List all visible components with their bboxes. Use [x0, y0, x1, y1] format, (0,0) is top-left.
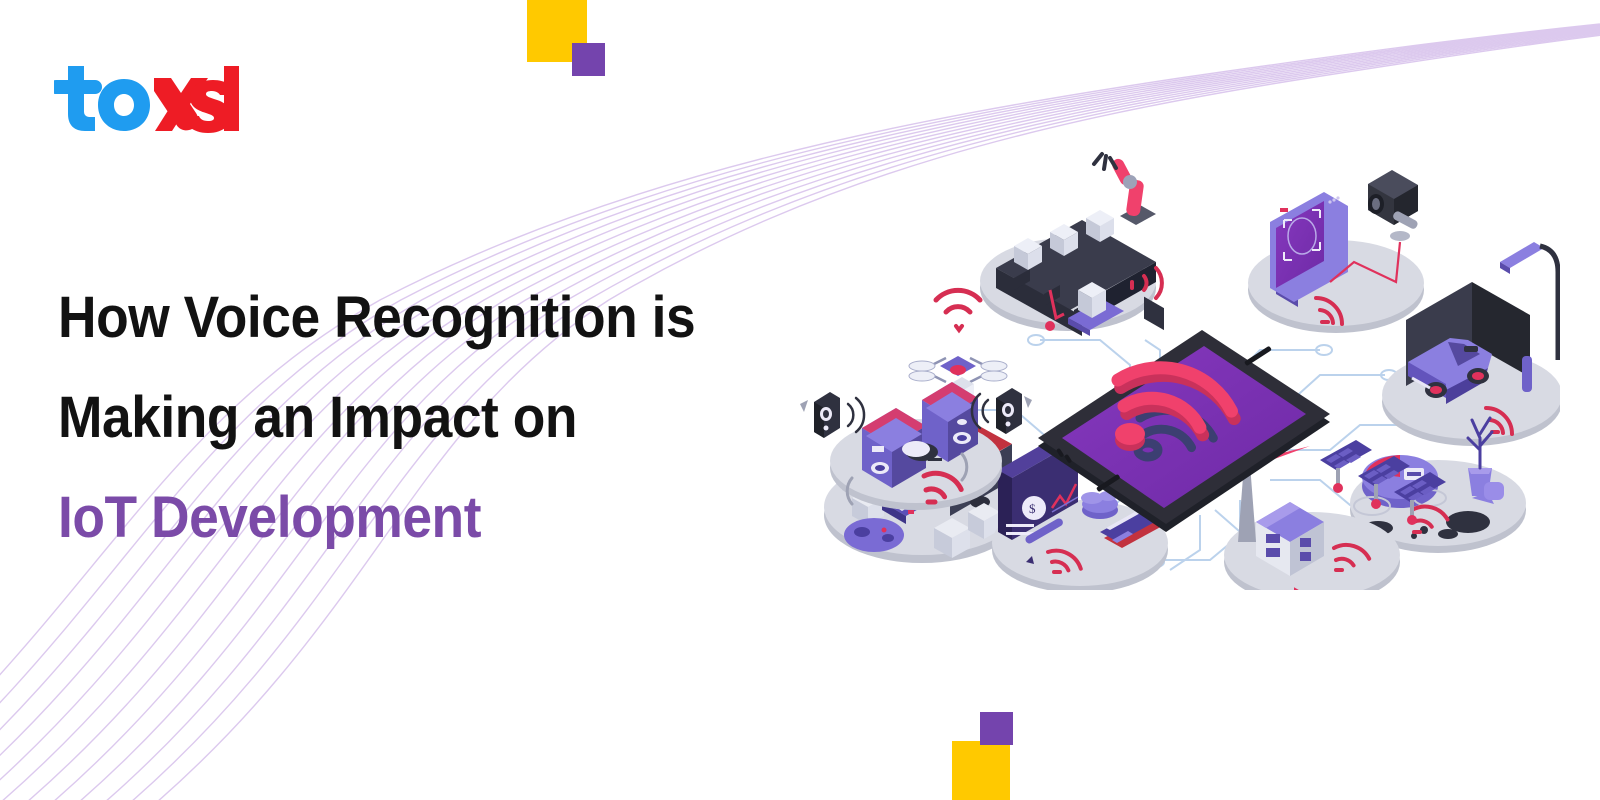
factory-node: M	[980, 154, 1164, 336]
bottom-purple-square	[980, 712, 1013, 745]
gamepad	[844, 518, 904, 552]
svg-text:$: $	[1029, 501, 1036, 516]
headline-line-3: IoT Development	[58, 468, 757, 568]
banner-stage: How Voice Recognition is Making an Impac…	[0, 0, 1600, 800]
page-title: How Voice Recognition is Making an Impac…	[58, 268, 818, 568]
bottom-yellow-square	[952, 741, 1010, 800]
headline-line-2: Making an Impact on	[58, 368, 757, 468]
toxsl-logo[interactable]	[54, 62, 239, 145]
headline-line-1: How Voice Recognition is	[58, 268, 757, 368]
surveillance-node	[1248, 170, 1424, 333]
top-purple-square	[572, 43, 605, 76]
security-camera-icon	[1368, 170, 1419, 241]
iot-network-illustration: M	[800, 150, 1560, 590]
drone-signal-icon	[936, 290, 980, 330]
svg-text:M: M	[1149, 221, 1156, 230]
toxsl-logo-mark	[54, 62, 239, 140]
